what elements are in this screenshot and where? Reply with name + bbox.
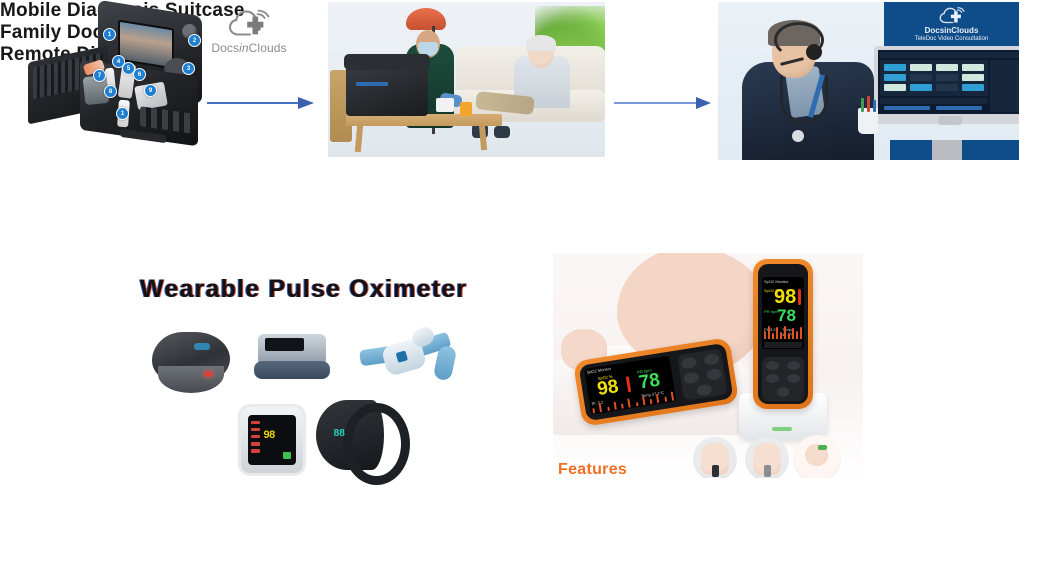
teledoc-cloud-cross-icon	[939, 6, 965, 26]
adult-finger-probe-thumb	[693, 437, 737, 478]
tabletop-item	[436, 98, 454, 112]
watch-oximeter-value: 98	[264, 429, 275, 441]
ring-oximeter-accent	[194, 343, 210, 350]
suitcase-marker-8[interactable]: 8	[104, 85, 117, 98]
wrist-probe-indicator	[395, 350, 408, 363]
brand-logo: DocsinClouds	[208, 8, 290, 54]
handheld-spo2-value: 98	[596, 377, 620, 399]
watch-strap-bottom	[252, 470, 292, 487]
monitor-stand	[938, 116, 962, 125]
monitor-toolbar	[880, 52, 1019, 58]
watch-bar	[251, 442, 259, 446]
ring-oximeter-image	[152, 332, 230, 384]
patient-card[interactable]	[962, 74, 984, 81]
teledoc-subtitle: TeleDoc Video Consultation	[884, 36, 1019, 42]
patient-hair	[526, 35, 556, 51]
patient-card[interactable]	[884, 74, 906, 81]
handheld-power-key[interactable]	[696, 383, 713, 396]
mobile-diagnosis-suitcase-photo: 1 2 3 4 5 6 7 8 9 1	[22, 6, 212, 156]
patient-card[interactable]	[962, 84, 984, 91]
pen	[861, 98, 864, 112]
teledoc-banner: DocsinClouds TeleDoc Video Consultation	[884, 2, 1019, 48]
docked-plethysmograph	[764, 325, 802, 339]
docked-status-bar: SpO2 Monitor	[764, 279, 789, 284]
patient-sock-2	[494, 126, 510, 138]
brand-name-suffix: Clouds	[249, 41, 287, 55]
fingertip-oximeter-strap	[254, 361, 330, 380]
suitcase-marker-7[interactable]: 7	[93, 69, 106, 82]
forehead-sensor	[818, 445, 827, 451]
watch-oximeter-image: 98	[238, 404, 306, 476]
patient-card[interactable]	[936, 84, 958, 91]
wearable-pulse-oximeter-title: Wearable Pulse Oximeter	[140, 275, 467, 304]
docked-monitor-device: SpO2 Monitor SpO2 % 98 PR bpm 78 PI: 3.2…	[753, 259, 813, 409]
handheld-key[interactable]	[703, 353, 720, 366]
watch-bar	[251, 421, 259, 425]
watch-oximeter-face: 98	[248, 415, 295, 465]
pen	[867, 96, 870, 112]
brand-name-italic: in	[239, 41, 249, 55]
watch-bar	[251, 449, 259, 453]
features-label: Features	[558, 461, 627, 479]
docked-power-key[interactable]	[777, 387, 789, 397]
finger-probe	[764, 465, 770, 476]
suitcase-marker-1[interactable]: 1	[103, 28, 116, 41]
monitor-side-panel	[990, 60, 1019, 112]
suitcase-marker-3[interactable]: 3	[182, 62, 195, 75]
docked-alarm-bar	[798, 289, 801, 305]
monitor-slider[interactable]	[936, 106, 982, 110]
desktop-monitor	[874, 46, 1019, 124]
brand-name-prefix: Docs	[211, 41, 239, 55]
patient-card[interactable]	[910, 64, 932, 71]
slide-canvas: 1 2 3 4 5 6 7 8 9 1 DocsinClouds	[0, 0, 1057, 581]
docked-key[interactable]	[766, 374, 779, 383]
handheld-pr-value: 78	[637, 370, 661, 392]
watch-strap-top	[252, 392, 292, 409]
floor-lamp-shade	[406, 8, 446, 30]
patient-card[interactable]	[962, 64, 984, 71]
patient-card[interactable]	[936, 74, 958, 81]
band-oximeter-strap	[343, 403, 410, 485]
docked-spo2-value: 98	[774, 287, 796, 307]
pill-bottle	[460, 102, 472, 116]
family-doctor-photo	[328, 2, 605, 157]
teledoc-brand: DocsinClouds	[884, 26, 1019, 35]
docked-keypad[interactable]	[762, 357, 804, 401]
suitcase-marker-2[interactable]: 2	[188, 34, 201, 47]
wrist-probe-oximeter-image	[360, 326, 452, 384]
monitor-slider[interactable]	[884, 106, 930, 110]
handheld-alarm-bar	[626, 376, 631, 392]
cloud-cross-wifi-icon	[228, 8, 270, 40]
dock-charge-led	[772, 427, 791, 431]
suitcase-marker-10[interactable]: 1	[116, 107, 129, 120]
handheld-keypad[interactable]	[677, 348, 728, 400]
docked-monitor-display: SpO2 Monitor SpO2 % 98 PR bpm 78 PI: 3.2…	[762, 277, 804, 349]
docked-softkeys[interactable]	[764, 342, 802, 348]
footer-strip-right	[962, 140, 1019, 160]
suitcase-marker-9[interactable]: 9	[144, 84, 157, 97]
finger-probe	[712, 465, 718, 476]
pen	[873, 100, 876, 112]
doctor-watch	[792, 130, 804, 142]
neonate-forehead-sensor-thumb	[793, 435, 841, 478]
suitcase-marker-6[interactable]: 6	[133, 68, 146, 81]
patient-card[interactable]	[936, 64, 958, 71]
table-leg-left	[355, 124, 363, 152]
diagnosis-case-lid	[344, 54, 430, 70]
flow-arrow-2	[612, 92, 714, 114]
remote-diagnosis-photo: DocsinClouds TeleDoc Video Consultation	[718, 2, 1019, 160]
patient-card[interactable]	[884, 84, 906, 91]
fingertip-oximeter-screen	[265, 338, 304, 350]
fingertip-oximeter-image	[258, 334, 326, 366]
case-brand-strip	[356, 82, 388, 86]
ring-oximeter-clip	[158, 366, 224, 393]
docked-key[interactable]	[787, 374, 800, 383]
patient-card[interactable]	[910, 74, 932, 81]
brand-name: DocsinClouds	[211, 42, 286, 54]
watch-green-indicator	[283, 452, 291, 459]
watch-bar	[251, 428, 259, 432]
handheld-key[interactable]	[683, 371, 700, 384]
watch-bar	[251, 435, 259, 439]
band-oximeter-value: 88	[334, 428, 345, 439]
patient-card[interactable]	[910, 84, 932, 91]
monitor-action-bar[interactable]	[880, 98, 988, 104]
monitor-screen	[878, 50, 1019, 114]
docked-key[interactable]	[766, 361, 779, 370]
headset-earcup	[806, 44, 822, 60]
handheld-key[interactable]	[706, 368, 723, 381]
band-oximeter-image: 88	[316, 400, 384, 470]
docked-pr-value: 78	[777, 307, 796, 324]
footer-strip-left	[890, 140, 932, 160]
pediatric-finger-probe-thumb	[745, 437, 789, 478]
footer-strip-middle	[932, 140, 962, 160]
neonatal-monitor-photo: SpO2 Monitor SpO2 % 98 PR bpm 78 PI: 3.2…	[553, 253, 863, 478]
docked-key[interactable]	[787, 361, 800, 370]
ring-oximeter-led	[204, 371, 213, 377]
flow-arrow-1	[205, 92, 317, 114]
handheld-key[interactable]	[681, 357, 698, 370]
patient-card[interactable]	[884, 64, 906, 71]
